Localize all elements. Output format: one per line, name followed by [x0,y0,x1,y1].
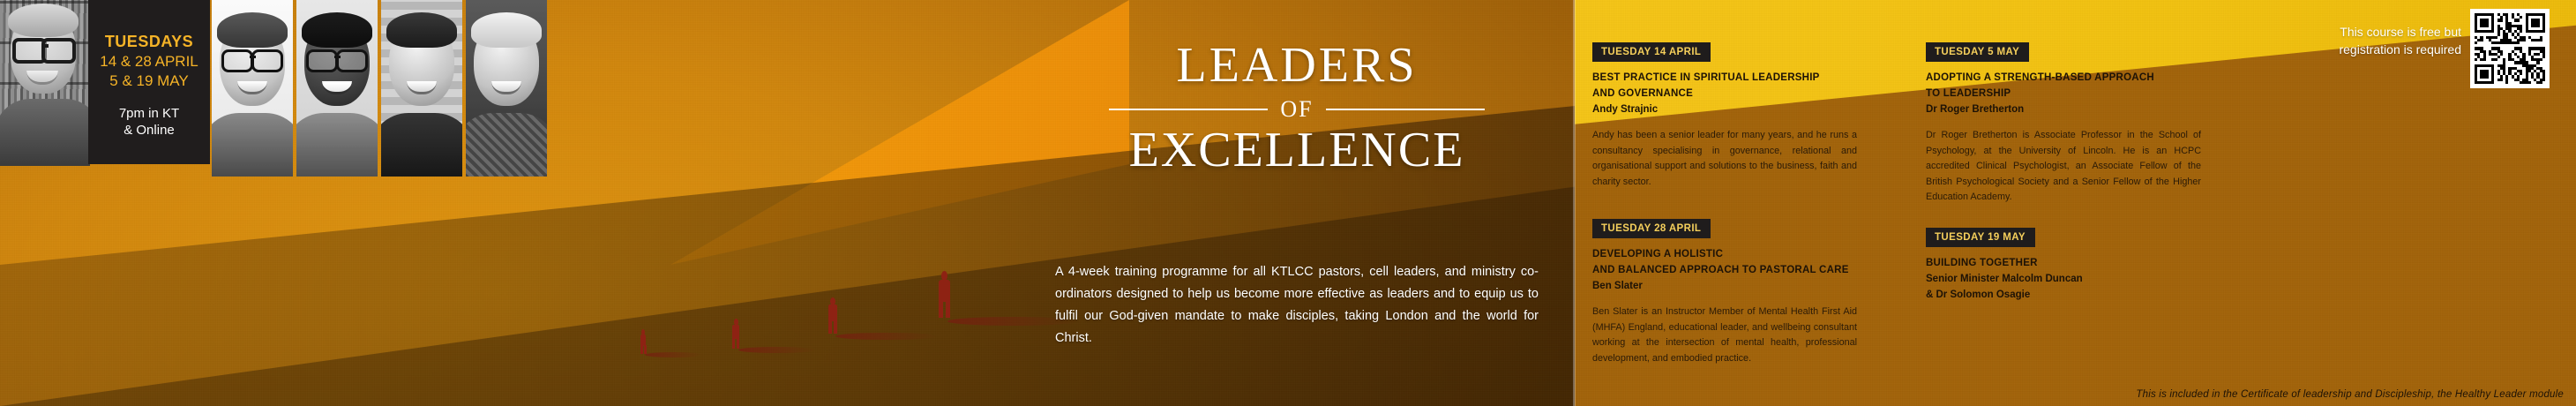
session-title-line-2: AND BALANCED APPROACH TO PASTORAL CARE [1592,263,1910,279]
portrait-hair [8,4,79,37]
rule-left [1109,109,1268,110]
session-bio: Dr Roger Bretherton is Associate Profess… [1926,128,2201,205]
session-title-line-2: TO LEADERSHIP [1926,86,2243,102]
registration-note: This course is free but registration is … [2276,23,2461,59]
glasses-icon [12,38,76,57]
glasses-icon [221,49,284,68]
registration-note-line-2: registration is required [2276,41,2461,58]
session-date-badge: TUESDAY 5 MAY [1926,42,2029,62]
session-speaker: Ben Slater [1592,279,1910,295]
dates-line-1: 14 & 28 APRIL [88,52,210,71]
session-title-line-1: BEST PRACTICE IN SPIRITUAL LEADERSHIP [1592,71,1910,86]
session-title-line-1: BUILDING TOGETHER [1926,256,2243,272]
sessions-panel: TUESDAY 14 APRIL BEST PRACTICE IN SPIRIT… [1592,0,2576,406]
session-speaker: Senior Minister Malcolm Duncan [1926,272,2243,288]
session-bio: Andy has been a senior leader for many y… [1592,128,1857,190]
promotional-banner: TUESDAYS 14 & 28 APRIL 5 & 19 MAY 7pm in… [0,0,2576,406]
session-card: TUESDAY 14 APRIL BEST PRACTICE IN SPIRIT… [1592,42,1910,190]
session-card: TUESDAY 28 APRIL DEVELOPING A HOLISTIC A… [1592,219,1910,366]
session-title-line-1: ADOPTING A STRENGTH-BASED APPROACH [1926,71,2243,86]
hero-title-line-1: LEADERS [1050,41,1544,91]
section-divider [1573,0,1576,406]
qr-code[interactable] [2470,9,2550,88]
qr-code-matrix [2475,13,2545,84]
session-date-badge: TUESDAY 28 APRIL [1592,219,1711,238]
registration-note-line-1: This course is free but [2276,23,2461,41]
session-card: TUESDAY 5 MAY ADOPTING A STRENGTH-BASED … [1926,42,2243,206]
session-bio: Ben Slater is an Instructor Member of Me… [1592,304,1857,366]
speaker-photo [296,0,378,177]
speaker-photo-strip [212,0,547,177]
hero-title-of-row: OF [1050,96,1544,123]
dates-panel: TUESDAYS 14 & 28 APRIL 5 & 19 MAY 7pm in… [88,0,210,164]
glasses-icon [305,49,369,68]
session-title-line-1: DEVELOPING A HOLISTIC [1592,247,1910,263]
session-date-badge: TUESDAY 14 APRIL [1592,42,1711,62]
speaker-photo [212,0,293,177]
session-card: TUESDAY 19 MAY BUILDING TOGETHER Senior … [1926,228,2243,303]
rule-right [1326,109,1485,110]
hero-title-block: LEADERS OF EXCELLENCE [1050,41,1544,177]
tuesdays-label: TUESDAYS [88,32,210,52]
hero-description: A 4-week training programme for all KTLC… [1055,261,1539,350]
session-speaker: Dr Roger Bretherton [1926,102,2243,118]
session-date-badge: TUESDAY 19 MAY [1926,228,2035,247]
session-speaker-2: & Dr Solomon Osagie [1926,288,2243,304]
walking-figures-illustration [618,225,1112,384]
time-line-2: & Online [88,122,210,139]
footer-note: This is included in the Certificate of l… [1592,389,2564,400]
session-speaker: Andy Strajnic [1592,102,1910,118]
hero-title-line-2: EXCELLENCE [1050,124,1544,177]
session-title-line-2: AND GOVERNANCE [1592,86,1910,102]
speaker-photo [466,0,547,177]
hero-title-of: OF [1280,96,1313,123]
dates-line-2: 5 & 19 MAY [88,71,210,91]
hero-portrait-photo [0,0,90,166]
portrait-body [0,99,90,166]
time-line-1: 7pm in KT [88,105,210,123]
speaker-photo [381,0,462,177]
